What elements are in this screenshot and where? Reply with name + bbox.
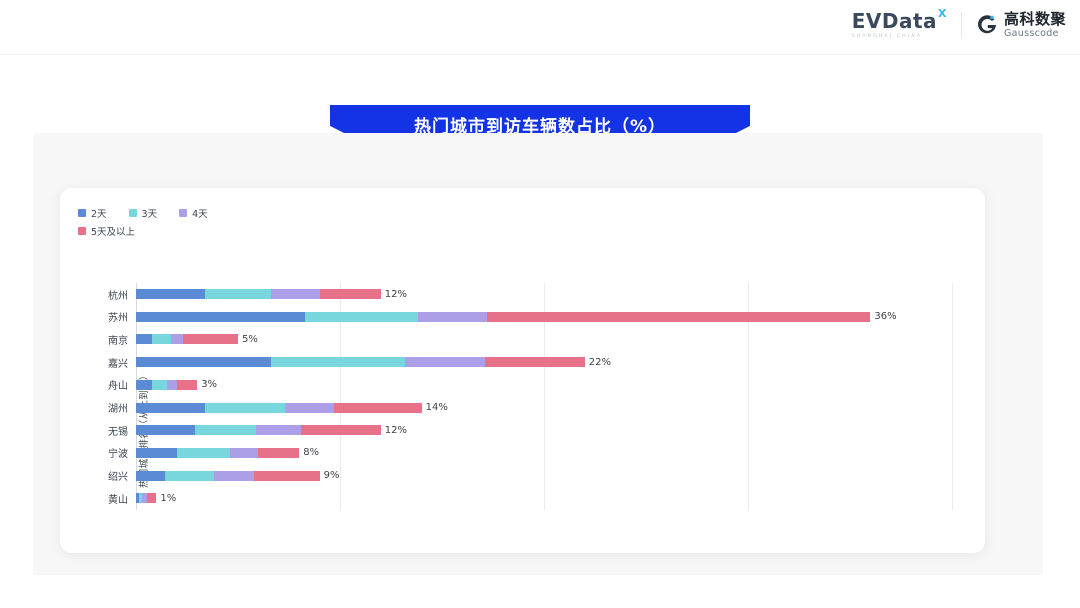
- chart-row[interactable]: 杭州12%: [136, 283, 952, 305]
- bar-segment-4天[interactable]: [405, 357, 485, 367]
- bar-segment-3天[interactable]: [152, 380, 166, 390]
- stacked-bar[interactable]: [136, 312, 870, 322]
- bar-value-label: 36%: [874, 306, 896, 328]
- bar-value-label: 8%: [303, 442, 319, 464]
- bar-value-label: 14%: [426, 397, 448, 419]
- bar-segment-3天[interactable]: [271, 357, 406, 367]
- gausscode-name-en: Gausscode: [1004, 29, 1066, 39]
- gausscode-name-cn: 高科数聚: [1004, 12, 1066, 27]
- chart-row[interactable]: 南京5%: [136, 328, 952, 350]
- bar-segment-3天[interactable]: [195, 425, 256, 435]
- evdata-text: EVData: [852, 11, 937, 31]
- bar-segment-3天[interactable]: [152, 334, 170, 344]
- gridline-40: [952, 283, 953, 510]
- bar-segment-5天及以上[interactable]: [487, 312, 871, 322]
- bar-segment-2天[interactable]: [136, 471, 165, 481]
- bar-segment-5天及以上[interactable]: [301, 425, 381, 435]
- stacked-bar[interactable]: [136, 471, 320, 481]
- stacked-bar[interactable]: [136, 357, 585, 367]
- bar-value-label: 1%: [160, 487, 176, 509]
- stacked-bar[interactable]: [136, 334, 238, 344]
- category-label-南京: 南京: [108, 328, 128, 350]
- header-divider: [0, 54, 1080, 55]
- chart-row[interactable]: 黄山1%: [136, 487, 952, 509]
- stacked-bar[interactable]: [136, 493, 156, 503]
- evdata-logo: EVData X SHANGHAI CHINA: [852, 11, 947, 39]
- category-label-湖州: 湖州: [108, 397, 128, 419]
- chart-row[interactable]: 嘉兴22%: [136, 351, 952, 373]
- category-label-嘉兴: 嘉兴: [108, 351, 128, 373]
- stacked-bar[interactable]: [136, 403, 422, 413]
- category-label-杭州: 杭州: [108, 283, 128, 305]
- bar-segment-2天[interactable]: [136, 289, 205, 299]
- category-label-舟山: 舟山: [108, 374, 128, 396]
- bar-segment-5天及以上[interactable]: [254, 471, 319, 481]
- bar-segment-3天[interactable]: [205, 289, 270, 299]
- bar-segment-4天[interactable]: [230, 448, 259, 458]
- gausscode-logo: 高科数聚 Gausscode: [976, 12, 1066, 39]
- chart-row[interactable]: 无锡12%: [136, 419, 952, 441]
- chart-row[interactable]: 绍兴9%: [136, 465, 952, 487]
- category-label-黄山: 黄山: [108, 487, 128, 509]
- stacked-bar[interactable]: [136, 289, 381, 299]
- stacked-bar[interactable]: [136, 448, 299, 458]
- bar-value-label: 12%: [385, 283, 407, 305]
- category-label-绍兴: 绍兴: [108, 465, 128, 487]
- bar-segment-2天[interactable]: [136, 403, 205, 413]
- bar-segment-2天[interactable]: [136, 357, 271, 367]
- stacked-bar-chart: 热门城市排名（从上到下） 杭州12%苏州36%南京5%嘉兴22%舟山3%湖州14…: [60, 188, 985, 553]
- bar-segment-4天[interactable]: [418, 312, 487, 322]
- bar-segment-2天[interactable]: [136, 425, 195, 435]
- logo-group: EVData X SHANGHAI CHINA 高科数聚 Gausscode: [852, 11, 1066, 39]
- chart-row[interactable]: 舟山3%: [136, 374, 952, 396]
- bar-segment-5天及以上[interactable]: [485, 357, 585, 367]
- chart-card: 2天3天4天5天及以上 热门城市排名（从上到下） 杭州12%苏州36%南京5%嘉…: [60, 188, 985, 553]
- gausscode-wordmark: 高科数聚 Gausscode: [1004, 12, 1066, 39]
- bar-value-label: 5%: [242, 328, 258, 350]
- evdata-tagline: SHANGHAI CHINA: [852, 34, 923, 39]
- category-label-无锡: 无锡: [108, 419, 128, 441]
- plot-area: 杭州12%苏州36%南京5%嘉兴22%舟山3%湖州14%无锡12%宁波8%绍兴9…: [136, 283, 952, 510]
- bar-segment-2天[interactable]: [136, 334, 152, 344]
- evdata-x-icon: X: [938, 8, 947, 19]
- category-label-苏州: 苏州: [108, 306, 128, 328]
- bar-segment-4天[interactable]: [167, 380, 177, 390]
- category-label-宁波: 宁波: [108, 442, 128, 464]
- bar-segment-4天[interactable]: [214, 471, 255, 481]
- bar-value-label: 9%: [324, 465, 340, 487]
- bar-value-label: 22%: [589, 351, 611, 373]
- bar-segment-4天[interactable]: [256, 425, 301, 435]
- bar-segment-4天[interactable]: [271, 289, 320, 299]
- stacked-bar[interactable]: [136, 380, 197, 390]
- bar-segment-5天及以上[interactable]: [147, 493, 156, 503]
- evdata-wordmark: EVData X: [852, 11, 947, 31]
- chart-row[interactable]: 宁波8%: [136, 442, 952, 464]
- bar-segment-4天[interactable]: [171, 334, 183, 344]
- bar-segment-5天及以上[interactable]: [183, 334, 238, 344]
- bar-segment-2天[interactable]: [136, 448, 177, 458]
- bar-value-label: 12%: [385, 419, 407, 441]
- bar-segment-5天及以上[interactable]: [177, 380, 197, 390]
- bar-segment-5天及以上[interactable]: [258, 448, 299, 458]
- bar-segment-5天及以上[interactable]: [334, 403, 422, 413]
- bar-value-label: 3%: [201, 374, 217, 396]
- bar-segment-3天[interactable]: [165, 471, 214, 481]
- bar-segment-2天[interactable]: [136, 312, 305, 322]
- gausscode-mark-icon: [976, 14, 998, 36]
- page-header: EVData X SHANGHAI CHINA 高科数聚 Gausscode: [0, 0, 1080, 55]
- logo-separator: [961, 12, 962, 38]
- bar-segment-3天[interactable]: [205, 403, 285, 413]
- stacked-bar[interactable]: [136, 425, 381, 435]
- bar-segment-3天[interactable]: [177, 448, 230, 458]
- chart-row[interactable]: 苏州36%: [136, 306, 952, 328]
- bar-segment-3天[interactable]: [305, 312, 417, 322]
- chart-row[interactable]: 湖州14%: [136, 397, 952, 419]
- bar-segment-4天[interactable]: [285, 403, 334, 413]
- bar-segment-2天[interactable]: [136, 380, 152, 390]
- bar-segment-5天及以上[interactable]: [320, 289, 381, 299]
